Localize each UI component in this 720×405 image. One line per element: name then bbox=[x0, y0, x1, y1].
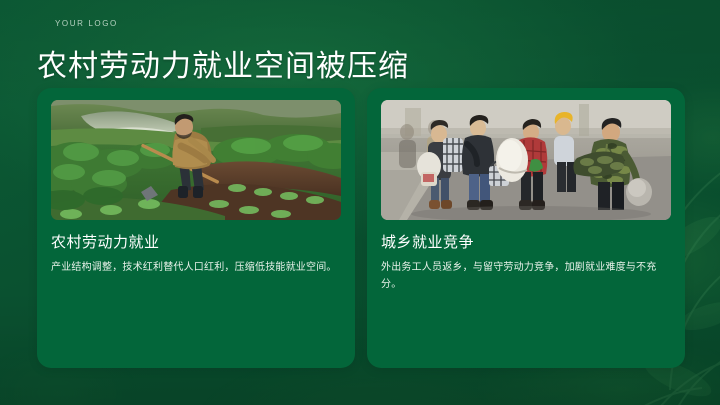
card-body-text: 外出务工人员返乡，与留守劳动力竞争，加剧就业难度与不充分。 bbox=[381, 259, 667, 293]
migrant-workers-returning-home-photo bbox=[381, 100, 671, 220]
content-card[interactable]: 城乡就业竞争 外出务工人员返乡，与留守劳动力竞争，加剧就业难度与不充分。 bbox=[367, 88, 685, 368]
card-heading: 农村劳动力就业 bbox=[51, 233, 341, 253]
cards-container: 农村劳动力就业 产业结构调整，技术红利替代人口红利，压缩低技能就业空间。 bbox=[37, 88, 687, 368]
farmer-hoeing-vegetable-field-photo bbox=[51, 100, 341, 220]
page-title: 农村劳动力就业空间被压缩 bbox=[37, 47, 409, 87]
slide-canvas: YOUR LOGO 农村劳动力就业空间被压缩 bbox=[0, 0, 720, 405]
content-card[interactable]: 农村劳动力就业 产业结构调整，技术红利替代人口红利，压缩低技能就业空间。 bbox=[37, 88, 355, 368]
card-body-text: 产业结构调整，技术红利替代人口红利，压缩低技能就业空间。 bbox=[51, 259, 337, 276]
logo-text: YOUR LOGO bbox=[55, 19, 118, 28]
card-heading: 城乡就业竞争 bbox=[381, 233, 671, 253]
